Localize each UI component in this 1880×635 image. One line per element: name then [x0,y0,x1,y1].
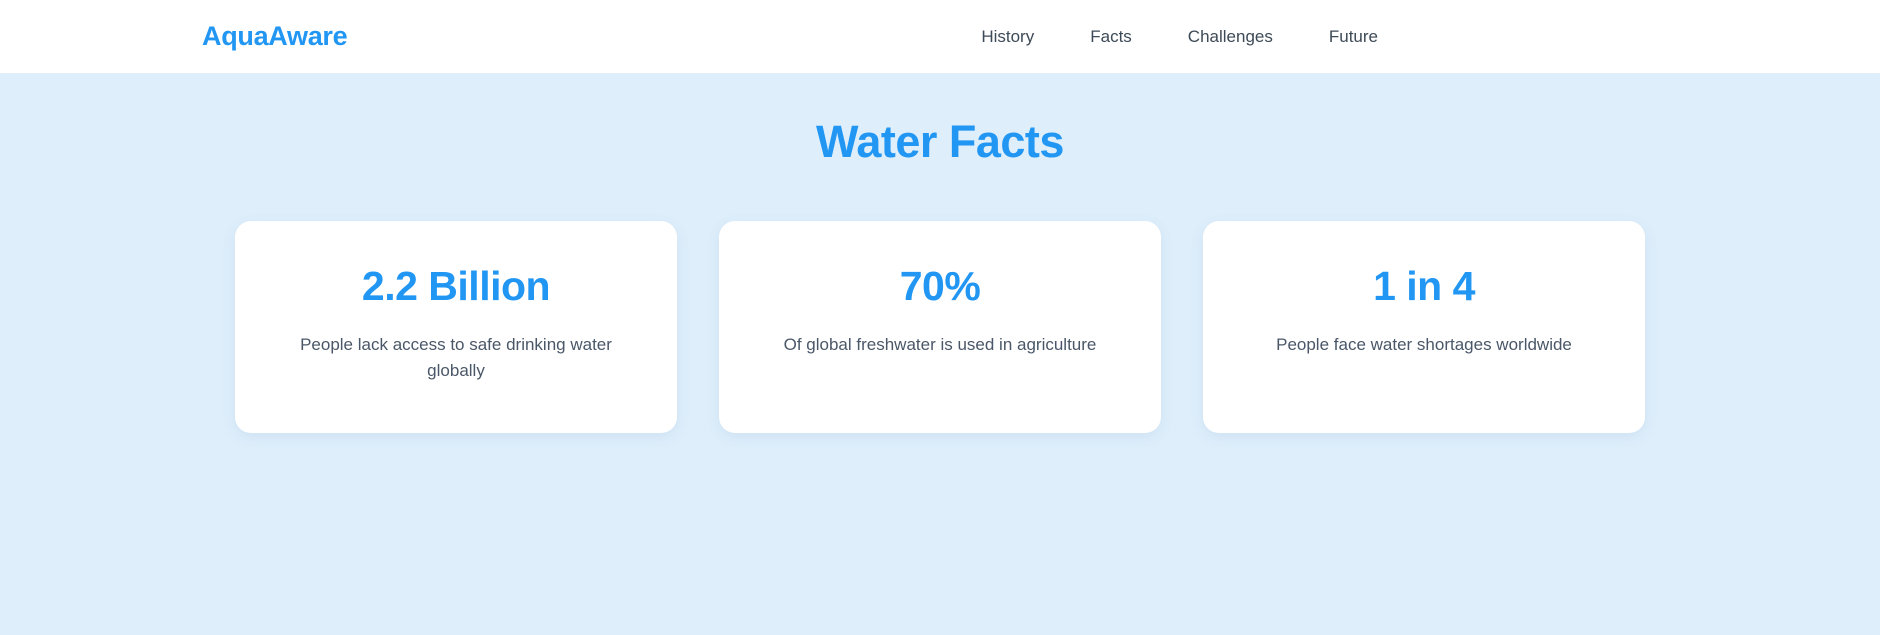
fact-description: People lack access to safe drinking wate… [291,332,621,385]
fact-stat-value: 2.2 Billion [362,263,550,310]
fact-stat-value: 70% [900,263,981,310]
fact-card: 1 in 4 People face water shortages world… [1203,221,1645,433]
brand-logo[interactable]: AquaAware [202,23,347,50]
nav-link-future[interactable]: Future [1329,28,1378,45]
nav-link-facts[interactable]: Facts [1090,28,1132,45]
water-facts-section: Water Facts 2.2 Billion People lack acce… [0,73,1880,635]
fact-card: 2.2 Billion People lack access to safe d… [235,221,677,433]
fact-cards-row: 2.2 Billion People lack access to safe d… [0,221,1880,433]
page-title: Water Facts [0,73,1880,167]
site-header: AquaAware History Facts Challenges Futur… [0,0,1880,73]
fact-description: People face water shortages worldwide [1276,332,1572,358]
fact-card: 70% Of global freshwater is used in agri… [719,221,1161,433]
fact-description: Of global freshwater is used in agricult… [784,332,1097,358]
nav-link-challenges[interactable]: Challenges [1188,28,1273,45]
main-navigation: History Facts Challenges Future [981,28,1378,45]
nav-link-history[interactable]: History [981,28,1034,45]
fact-stat-value: 1 in 4 [1373,263,1475,310]
